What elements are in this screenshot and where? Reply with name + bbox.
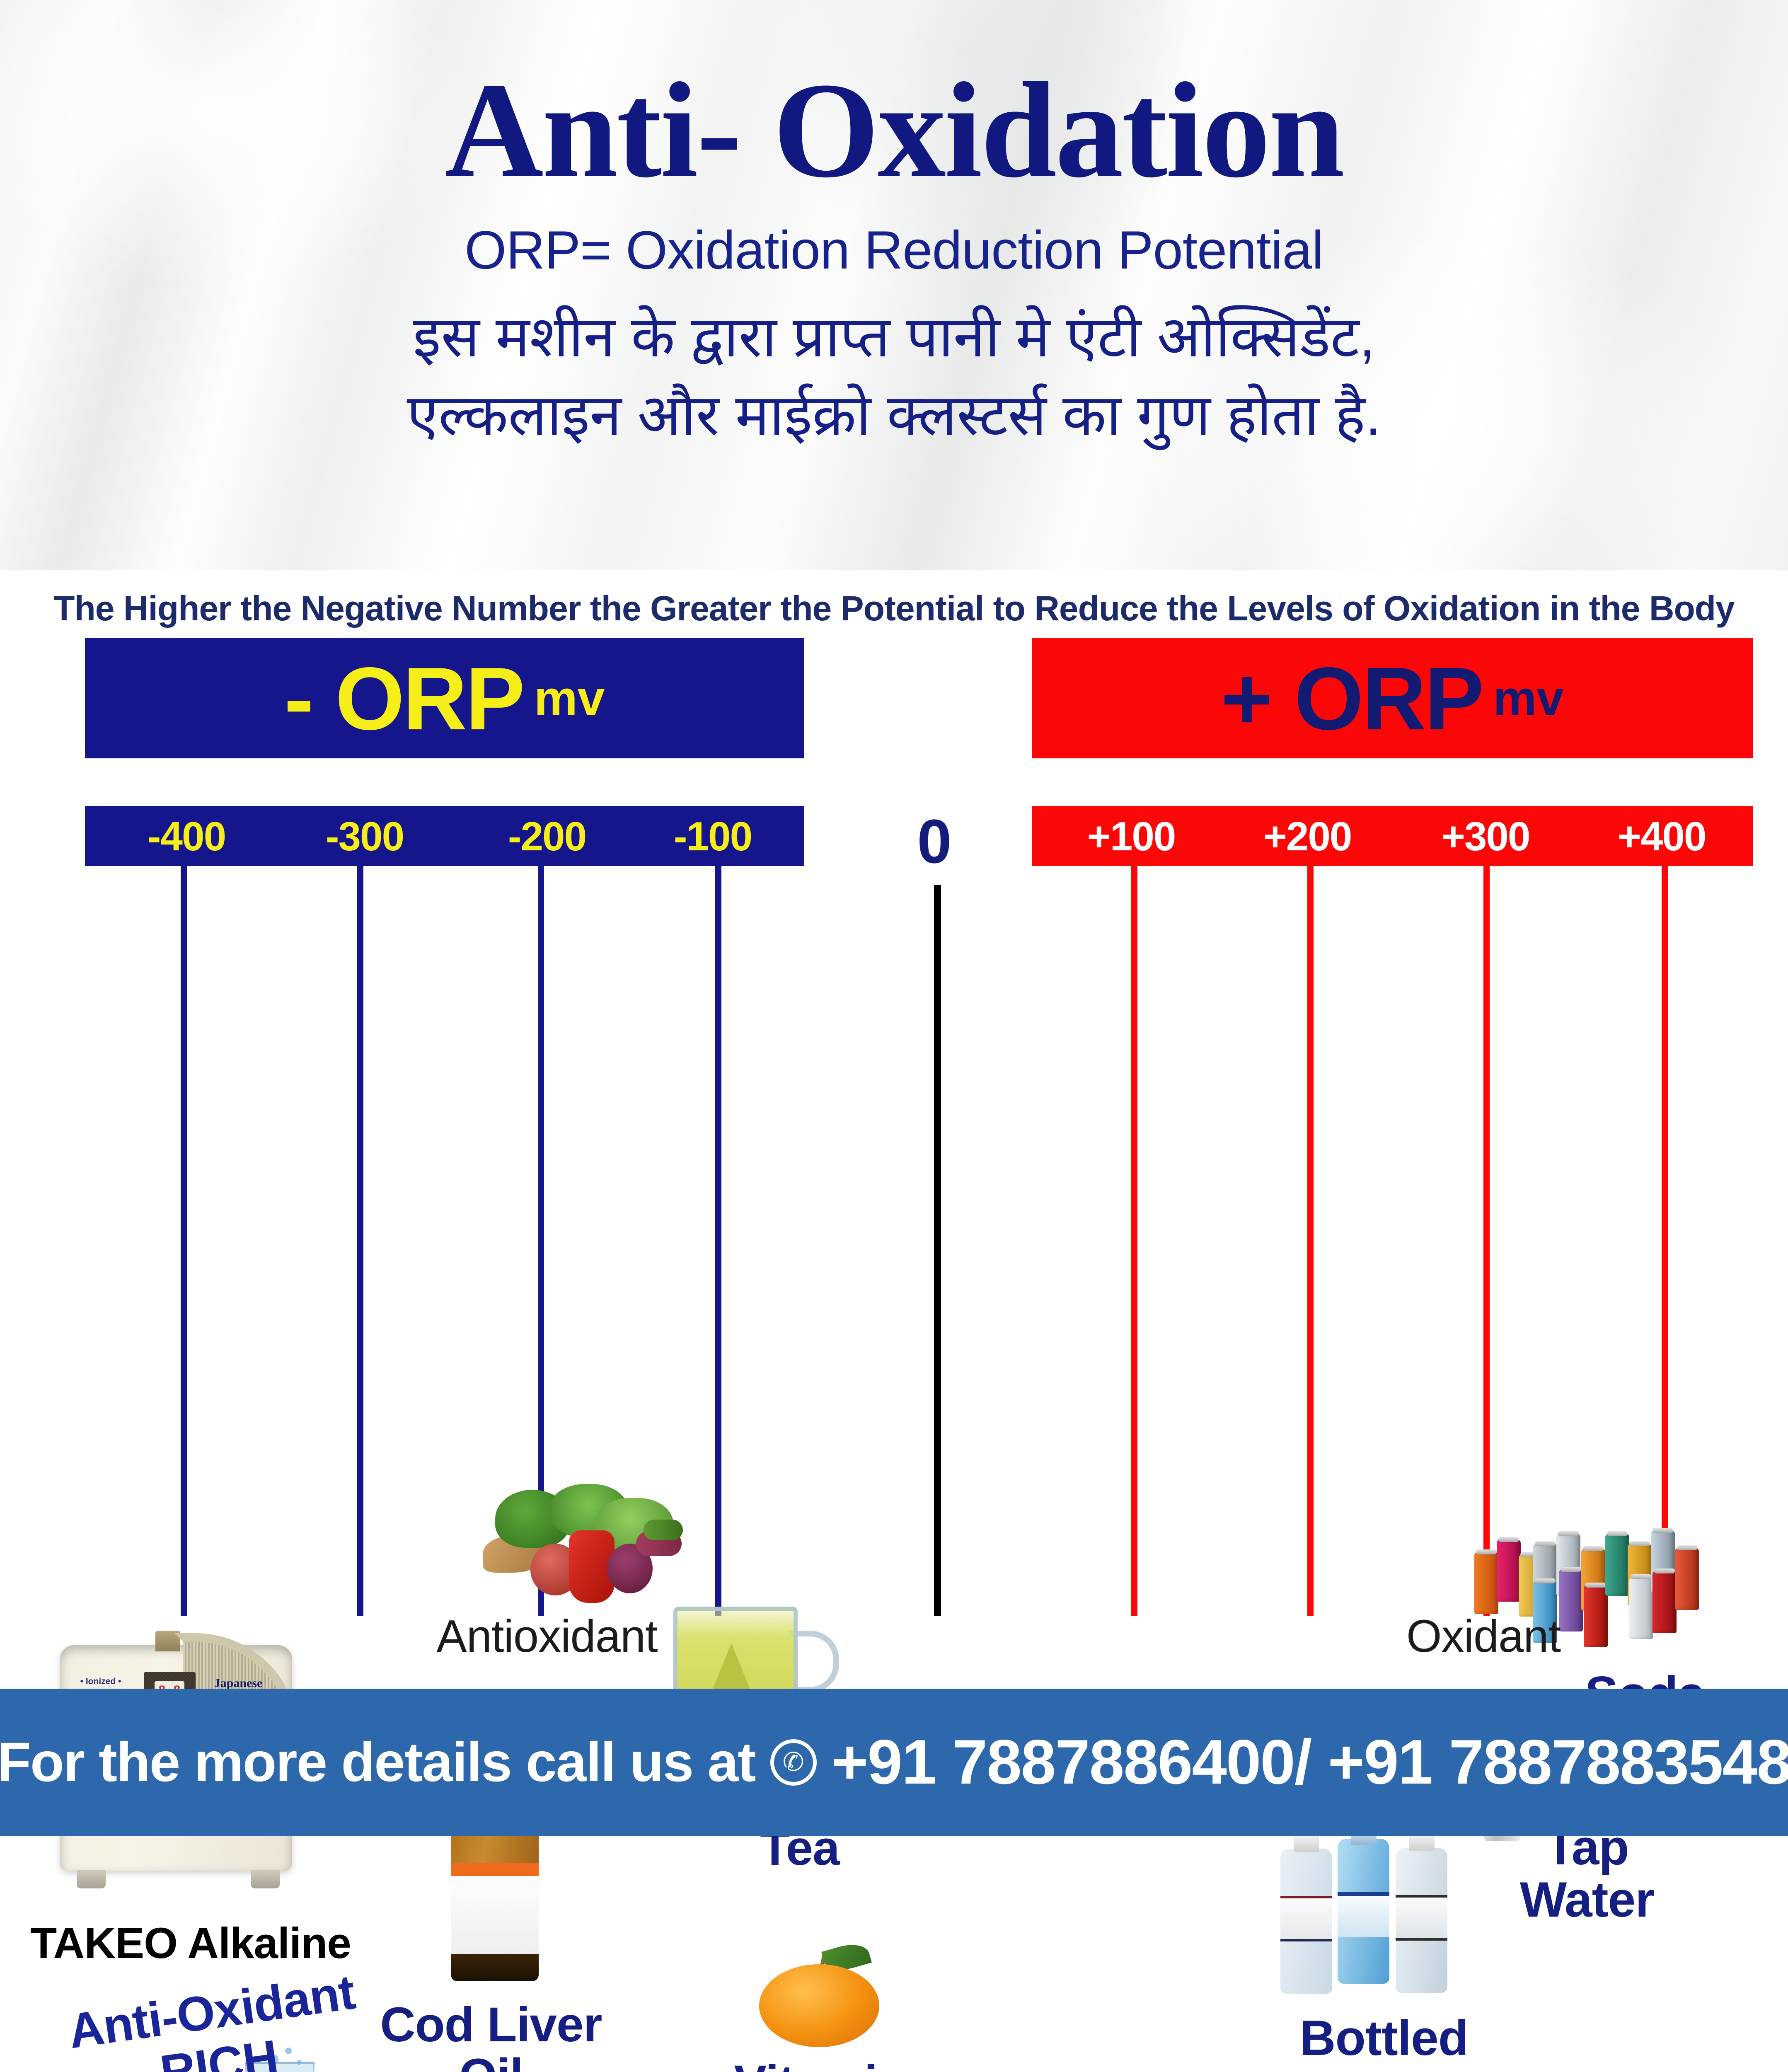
tick-minus-100: -100 xyxy=(674,816,752,857)
page-title: Anti- Oxidation xyxy=(0,0,1788,199)
axis-label-antioxidant: Antioxidant xyxy=(436,1610,657,1663)
tick-minus-200: -200 xyxy=(508,816,586,857)
page-subtitle: ORP= Oxidation Reduction Potential xyxy=(0,219,1788,281)
vitamin-c-line-1: Vitamin xyxy=(734,2055,907,2072)
footer-phone-numbers[interactable]: +91 7887886400/ +91 7887883548 xyxy=(832,1726,1788,1798)
tick-plus-100: +100 xyxy=(1087,816,1176,857)
positive-orp-unit: mv xyxy=(1493,674,1564,723)
orp-scale-chart: The Higher the Negative Number the Great… xyxy=(0,570,1788,1689)
gridline-plus-100 xyxy=(1131,866,1137,1616)
gridline-minus-400 xyxy=(181,866,187,1616)
cod-liver-line-1: Cod Liver xyxy=(380,1997,602,2052)
gridline-minus-100 xyxy=(715,866,721,1616)
axis-label-oxidant: Oxidant xyxy=(1406,1610,1561,1663)
positive-scale-strip: +100 +200 +300 +400 xyxy=(1032,806,1753,866)
header-banner: Anti- Oxidation ORP= Oxidation Reduction… xyxy=(0,0,1788,570)
contact-footer-bar: For the more details call us at ✆ +91 78… xyxy=(0,1689,1788,1836)
bottled-line-1: Bottled xyxy=(1300,2010,1468,2066)
tick-plus-300: +300 xyxy=(1442,816,1530,857)
label-takeo-alkaline: TAKEO Alkaline xyxy=(30,1919,351,1968)
positive-orp-banner: + ORP mv xyxy=(1032,638,1753,758)
label-tap-water: Tap Water xyxy=(1479,1821,1695,1926)
orange-fruit-image xyxy=(750,1939,887,2055)
gridline-plus-200 xyxy=(1307,866,1314,1616)
hindi-description-line-2: एल्कलाइन और माईक्रो क्लस्टर्स का गुण होत… xyxy=(0,378,1788,453)
negative-orp-banner: - ORP mv xyxy=(85,638,804,758)
label-bottled-reverse-osmosis-water: Bottled & Reverse Osmosis Water xyxy=(1140,2012,1628,2072)
bottled-water-image xyxy=(1276,1830,1496,2008)
cod-liver-line-2: Oil xyxy=(459,2049,523,2072)
negative-scale-strip: -400 -300 -200 -100 xyxy=(85,806,804,866)
label-antioxidant-rich: Anti-Oxidant RICH xyxy=(64,1965,366,2072)
tick-plus-200: +200 xyxy=(1263,816,1352,857)
footer-call-text: For the more details call us at xyxy=(0,1731,755,1794)
tick-minus-400: -400 xyxy=(148,816,225,857)
tap-water-line-2: Water xyxy=(1520,1872,1654,1927)
positive-orp-label: + ORP xyxy=(1221,654,1482,743)
machine-foot-right xyxy=(251,1870,280,1888)
bottled-line-2: & Reverse xyxy=(1264,2062,1504,2072)
gridline-minus-300 xyxy=(357,866,363,1616)
negative-orp-unit: mv xyxy=(534,674,605,723)
gridline-plus-300 xyxy=(1483,866,1490,1616)
gridline-plus-400 xyxy=(1662,866,1668,1616)
label-cod-liver-oil: Cod Liver Oil xyxy=(358,1999,624,2072)
machine-foot-left xyxy=(77,1870,106,1888)
negative-orp-label: - ORP xyxy=(284,654,523,743)
zero-tick-label: 0 xyxy=(917,810,951,872)
phone-icon: ✆ xyxy=(770,1739,817,1786)
tick-plus-400: +400 xyxy=(1618,816,1706,857)
chart-caption: The Higher the Negative Number the Great… xyxy=(0,588,1788,629)
label-vitamin-c: Vitamin C xyxy=(725,2057,916,2072)
tick-minus-300: -300 xyxy=(326,816,404,857)
vegetables-image xyxy=(470,1481,686,1618)
gridline-zero xyxy=(934,885,941,1616)
jp-line-1: Japanese xyxy=(214,1676,263,1690)
hindi-description-line-1: इस मशीन के द्वारा प्राप्त पानी मे एंटी ओ… xyxy=(0,300,1788,374)
